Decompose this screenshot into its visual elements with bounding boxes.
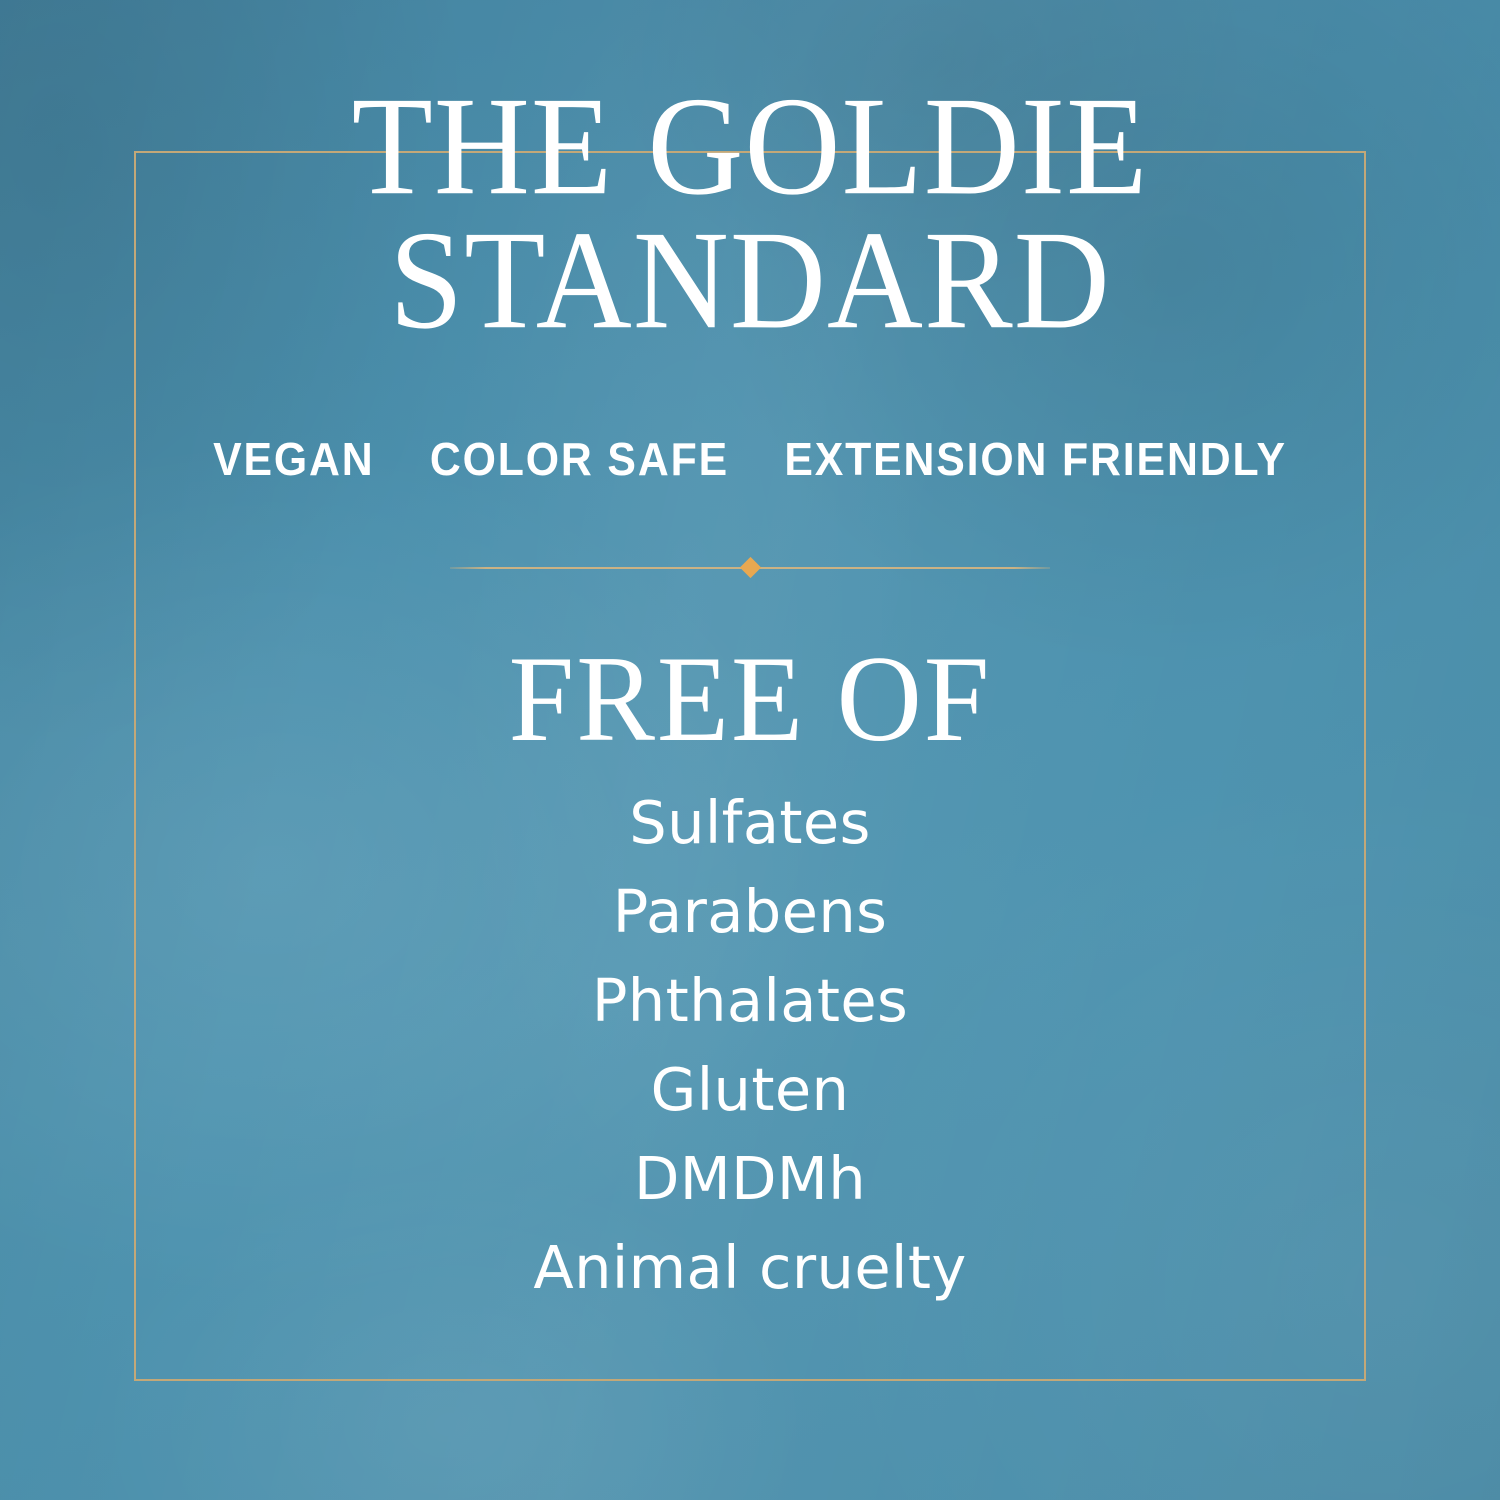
title-line-2: STANDARD	[0, 217, 1500, 342]
list-item: Animal cruelty	[0, 1223, 1500, 1312]
list-item: Gluten	[0, 1045, 1500, 1134]
page-title: THE GOLDIE STANDARD	[0, 83, 1500, 335]
claim-extension-friendly: EXTENSION FRIENDLY	[784, 433, 1287, 485]
list-item: Parabens	[0, 867, 1500, 956]
free-of-heading: FREE OF	[0, 638, 1500, 761]
title-line-1: THE GOLDIE	[0, 83, 1500, 208]
list-item: DMDMh	[0, 1134, 1500, 1223]
claim-color-safe: COLOR SAFE	[430, 433, 729, 485]
claim-vegan: VEGAN	[213, 433, 374, 485]
panel-content: THE GOLDIE STANDARD VEGAN COLOR SAFE EXT…	[0, 0, 1500, 1500]
list-item: Phthalates	[0, 956, 1500, 1045]
ornamental-divider	[450, 566, 1050, 569]
diamond-icon	[739, 557, 760, 578]
list-item: Sulfates	[0, 778, 1500, 867]
product-claims-graphic: THE GOLDIE STANDARD VEGAN COLOR SAFE EXT…	[0, 0, 1500, 1500]
claims-row: VEGAN COLOR SAFE EXTENSION FRIENDLY	[53, 432, 1448, 486]
free-of-list: Sulfates Parabens Phthalates Gluten DMDM…	[0, 778, 1500, 1312]
